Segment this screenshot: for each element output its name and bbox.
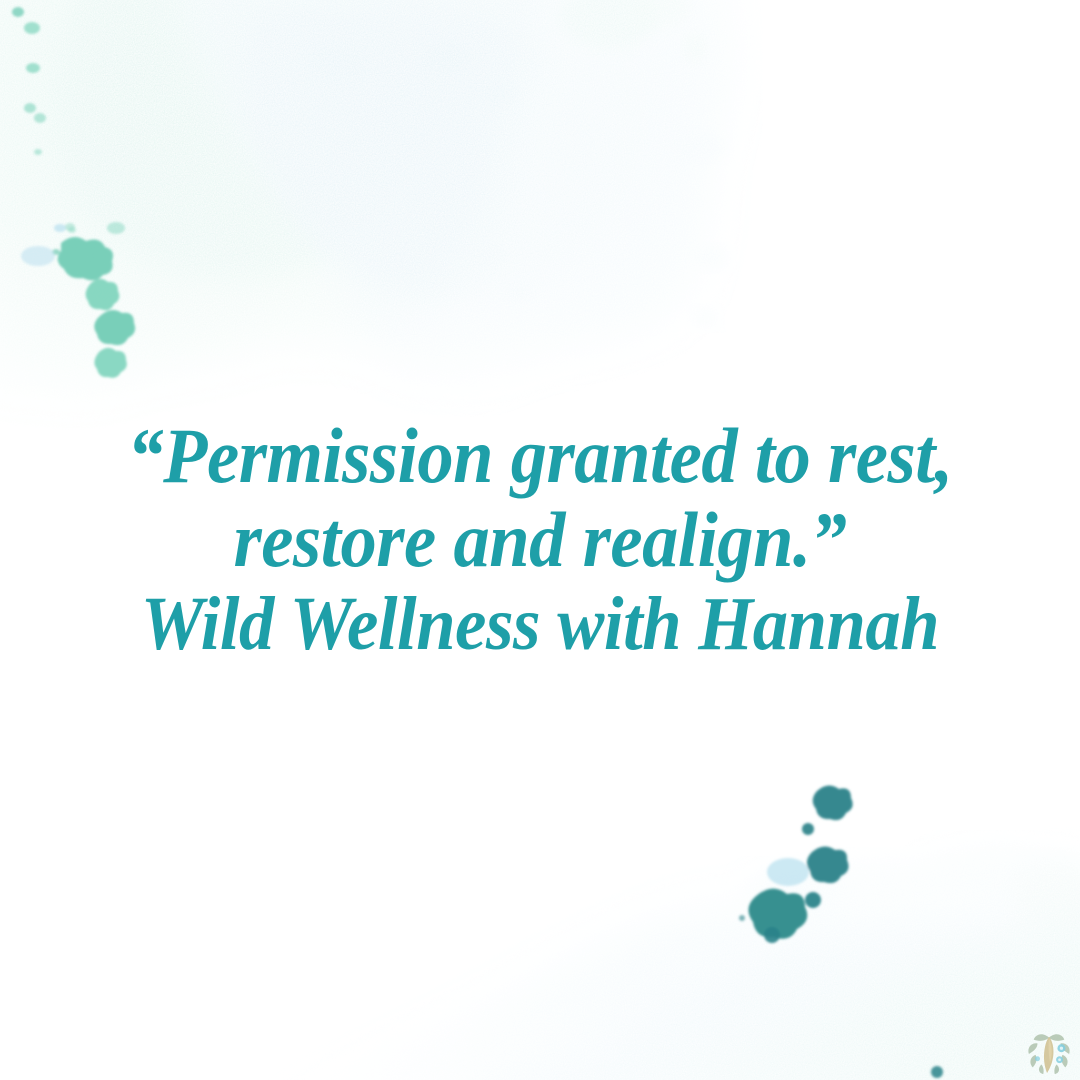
- quote-attribution: Wild Wellness with Hannah: [38, 582, 1042, 667]
- social-quote-card: “Permission granted to rest, restore and…: [0, 0, 1080, 1080]
- splatter-group-left: [12, 7, 135, 378]
- watercolor-wash-bottom-right: [240, 844, 1080, 1080]
- splatter-group-bottom-right: [739, 785, 943, 1078]
- wild-wellness-botanical-emblem-icon: [1026, 1030, 1072, 1076]
- quote-line-1: “Permission granted to rest,: [38, 414, 1042, 498]
- quote-line-2: restore and realign.”: [38, 498, 1042, 582]
- watercolor-wash-top: [0, 0, 747, 393]
- quote-text-block: “Permission granted to rest, restore and…: [0, 414, 1080, 668]
